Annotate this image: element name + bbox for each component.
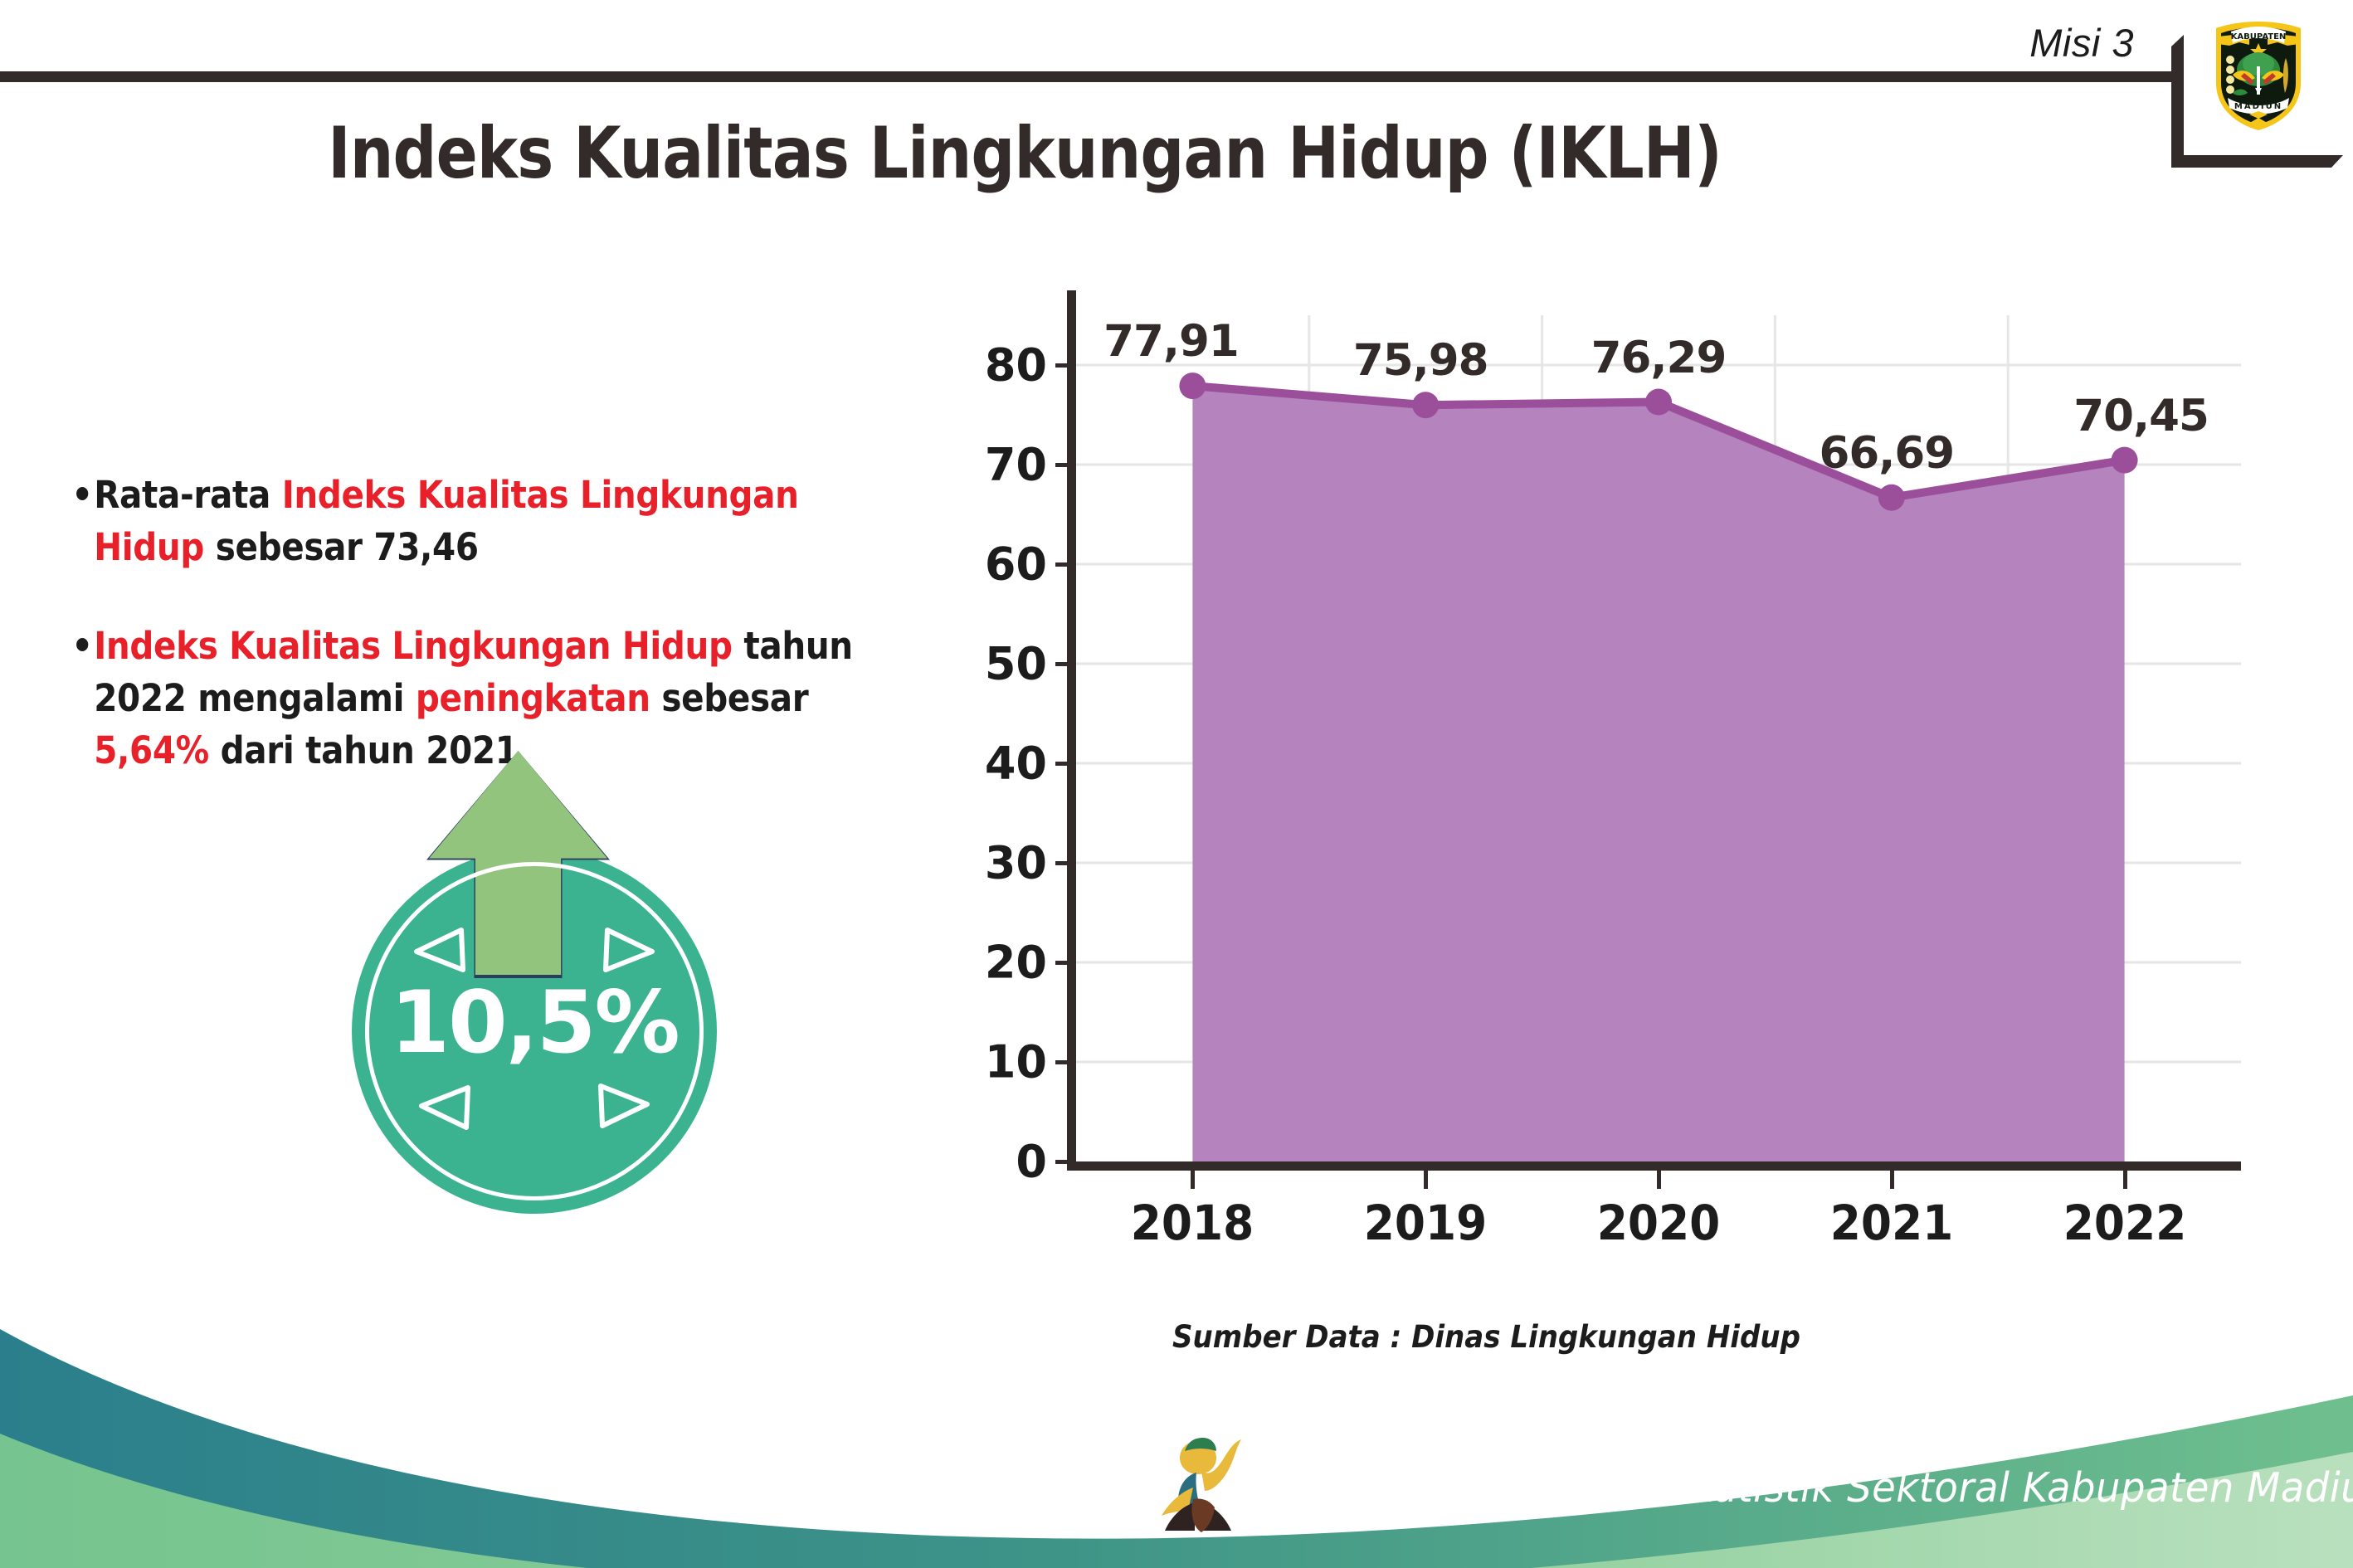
chart-data-point [1645, 389, 1672, 416]
chart-data-label: 77,91 [1103, 316, 1239, 367]
chart-y-tick-mark [1055, 363, 1070, 368]
svg-text:KABUPATEN: KABUPATEN [2231, 32, 2287, 41]
chart-y-tick-mark [1055, 562, 1070, 567]
chart-x-tick-mark [2123, 1171, 2127, 1189]
plain-text: sebesar [650, 676, 809, 720]
badge-value-text: 10,5% [352, 973, 717, 1073]
highlight-text: peningkatan [416, 676, 650, 720]
chart-x-tick-label: 2021 [1830, 1195, 1954, 1251]
plain-text: sebesar 73,46 [204, 525, 479, 569]
chart-data-label: 76,29 [1591, 333, 1727, 383]
chart-x-tick-label: 2022 [2063, 1195, 2186, 1251]
chart-y-tick-label: 60 [985, 538, 1047, 591]
chart-data-label: 70,45 [2073, 391, 2209, 441]
chart-x-tick-mark [1424, 1171, 1428, 1189]
badge-tick-bottom-left-icon [417, 1083, 476, 1131]
chart-x-axis-spine [1067, 1161, 2241, 1171]
chart-y-axis-spine [1067, 290, 1076, 1164]
badge-tick-top-left-icon [412, 927, 471, 975]
chart-y-tick-label: 20 [985, 937, 1047, 989]
chart-y-tick-label: 80 [985, 339, 1047, 392]
growth-badge: 10,5% [325, 751, 773, 1215]
plain-text: Rata-rata [94, 473, 282, 517]
chart-data-point [1412, 392, 1439, 418]
footer-text: Media Infografis Data Statistik Sektoral… [1238, 1464, 2353, 1512]
highlight-text: 5,64% [94, 728, 209, 772]
chart-y-tick-mark [1055, 662, 1070, 666]
bracket-vertical-bar [2171, 35, 2184, 168]
chart-area-fill [1192, 386, 2124, 1161]
chart-svg [1076, 315, 2241, 1161]
chart-data-label: 66,69 [1819, 428, 1954, 479]
chart-y-tick-label: 30 [985, 837, 1047, 889]
statistics-dancer-logo-icon [1147, 1429, 1246, 1541]
chart-x-tick-label: 2018 [1131, 1195, 1254, 1251]
chart-x-tick-mark [1657, 1171, 1661, 1189]
chart-data-point [1878, 485, 1905, 511]
chart-y-tick-mark [1055, 961, 1070, 965]
chart-x-tick-label: 2020 [1597, 1195, 1721, 1251]
chart-y-tick-label: 10 [985, 1036, 1047, 1088]
chart-y-tick-mark [1055, 1060, 1070, 1064]
chart-y-tick-label: 70 [985, 439, 1047, 491]
svg-text:MADIUN: MADIUN [2234, 102, 2282, 111]
list-item: Rata-rata Indeks Kualitas Lingkungan Hid… [73, 469, 879, 573]
badge-tick-top-right-icon [597, 927, 657, 975]
chart-x-tick-mark [1191, 1171, 1195, 1189]
bracket-horizontal-bar [2171, 155, 2343, 168]
chart-y-tick-mark [1055, 861, 1070, 865]
chart-y-tick-mark [1055, 1160, 1070, 1164]
iklh-area-chart: 010203040506070802018201920202021202277,… [979, 290, 2273, 1203]
chart-y-tick-mark [1055, 463, 1070, 467]
chart-y-tick-mark [1055, 762, 1070, 766]
badge-tick-bottom-right-icon [592, 1081, 652, 1129]
footer: Media Infografis Data Statistik Sektoral… [0, 1294, 2353, 1568]
chart-x-tick-mark [1890, 1171, 1894, 1189]
chart-data-label: 75,98 [1353, 335, 1488, 386]
chart-y-tick-label: 0 [1016, 1136, 1047, 1188]
page-title: Indeks Kualitas Lingkungan Hidup (IKLH) [144, 112, 1906, 195]
chart-y-tick-label: 50 [985, 638, 1047, 690]
chart-plot-area [1076, 315, 2241, 1161]
chart-data-point [1179, 373, 1206, 399]
misi-label: Misi 3 [2029, 20, 2134, 66]
chart-x-tick-label: 2019 [1364, 1195, 1488, 1251]
header-divider-rule [0, 71, 2182, 82]
chart-data-point [2112, 447, 2138, 474]
kabupaten-madiun-emblem-icon: KABUPATEN MADIUN [2208, 18, 2309, 133]
highlight-text: Indeks Kualitas Lingkungan Hidup [94, 624, 732, 668]
chart-y-tick-label: 40 [985, 738, 1047, 790]
